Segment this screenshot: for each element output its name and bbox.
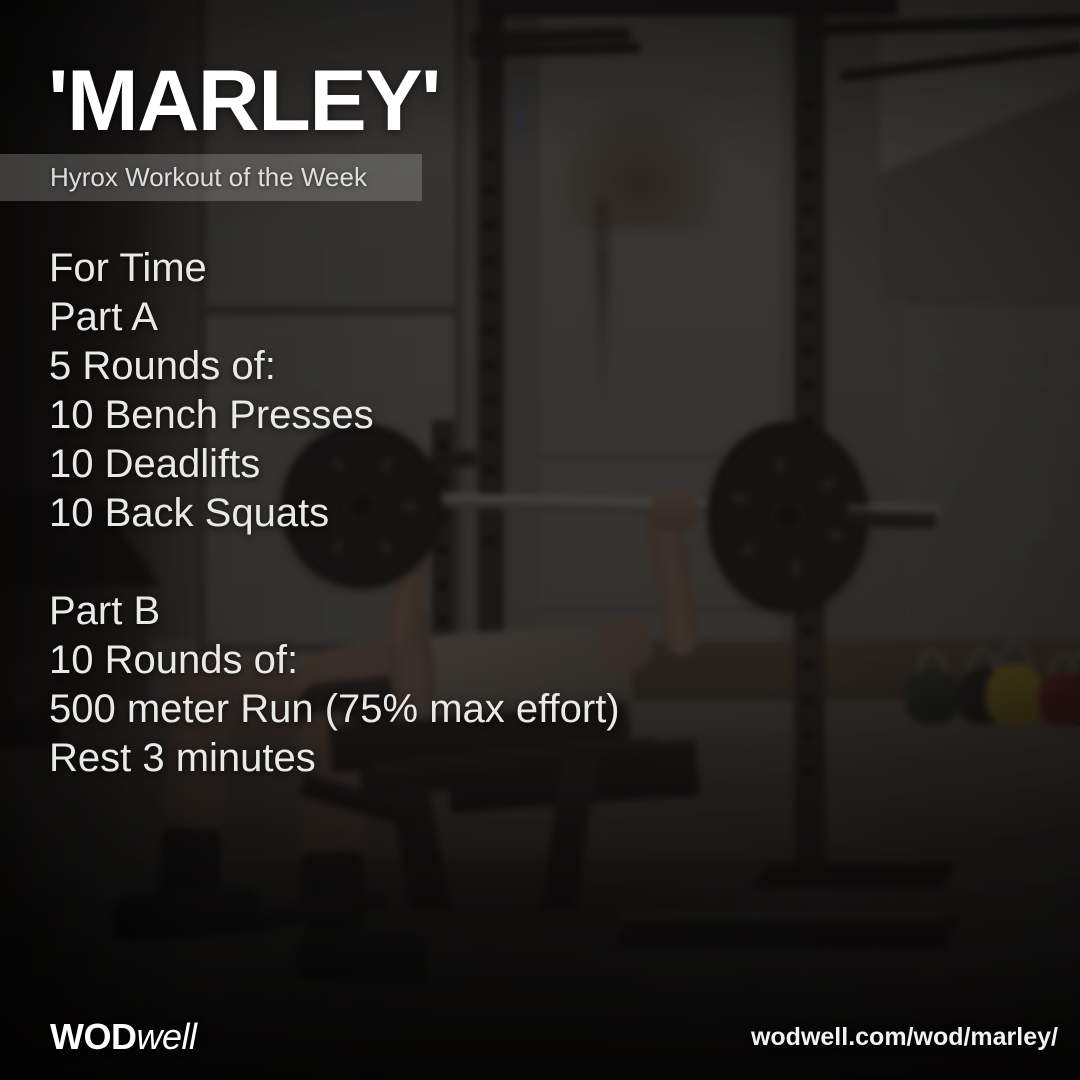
workout-description: For TimePart A5 Rounds of:10 Bench Press…	[49, 244, 969, 783]
workout-line-spacer	[49, 538, 969, 587]
workout-line: 5 Rounds of:	[49, 342, 969, 391]
workout-line: Rest 3 minutes	[49, 734, 969, 783]
workout-line: 10 Deadlifts	[49, 440, 969, 489]
workout-line: 10 Back Squats	[49, 489, 969, 538]
workout-url[interactable]: wodwell.com/wod/marley/	[751, 1023, 1058, 1052]
workout-line: 500 meter Run (75% max effort)	[49, 685, 969, 734]
workout-title: 'MARLEY'	[48, 58, 440, 146]
workout-card: 60 'MARLEY' Hyrox Workout of the Week Fo…	[0, 0, 1080, 1080]
workout-line: Part A	[49, 293, 969, 342]
workout-subtitle: Hyrox Workout of the Week	[0, 162, 367, 193]
workout-line: For Time	[49, 244, 969, 293]
wodwell-logo[interactable]: WODwell	[50, 1016, 197, 1058]
card-content: 'MARLEY' Hyrox Workout of the Week For T…	[0, 0, 1080, 1080]
logo-text-wod: WOD	[50, 1016, 136, 1057]
workout-line: Part B	[49, 587, 969, 636]
workout-line: 10 Rounds of:	[49, 636, 969, 685]
logo-text-well: well	[136, 1016, 196, 1057]
workout-line: 10 Bench Presses	[49, 391, 969, 440]
subtitle-band: Hyrox Workout of the Week	[0, 154, 422, 201]
